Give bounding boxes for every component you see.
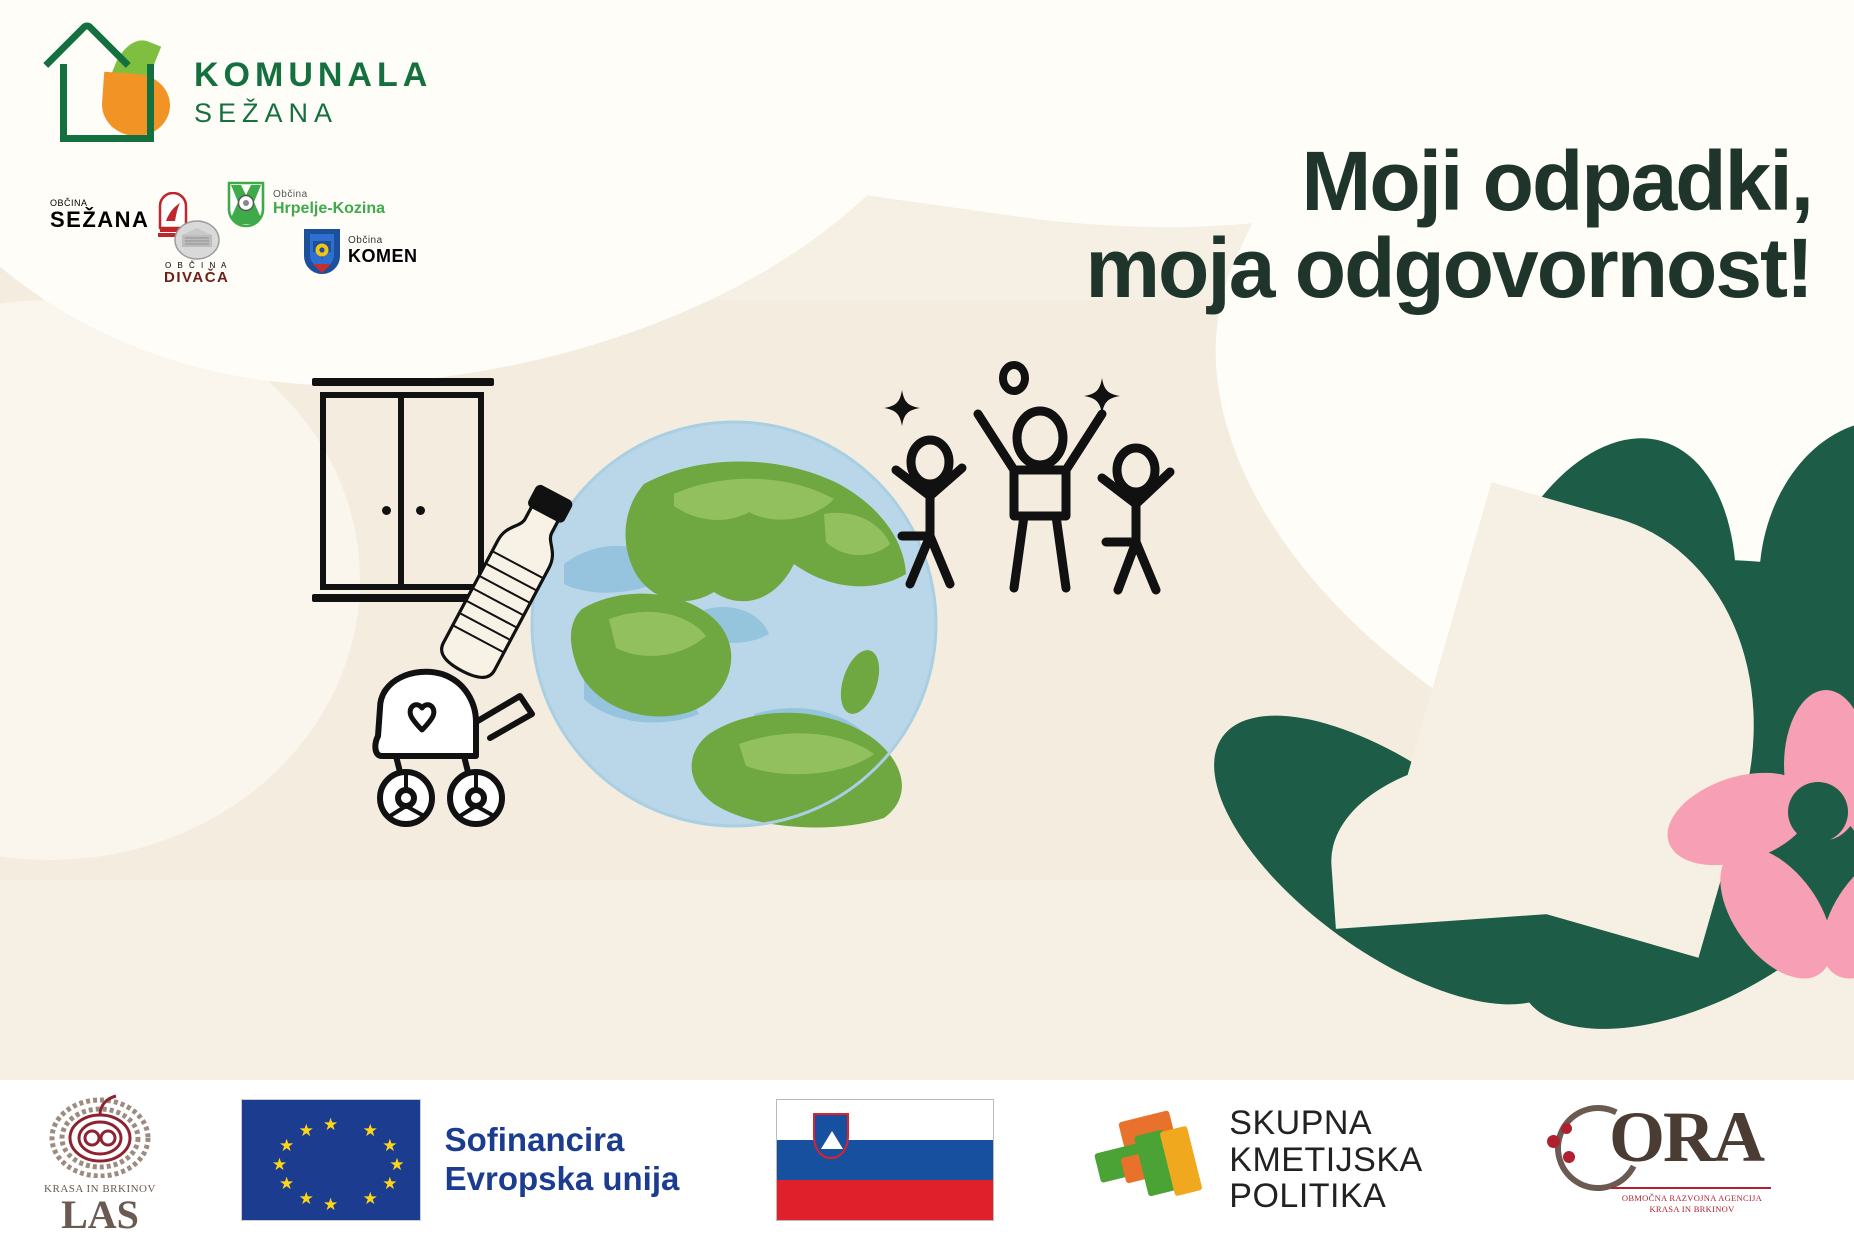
slovenia-flag (720, 1080, 1050, 1240)
municipality-komen: Občina KOMEN (303, 228, 418, 274)
skp-mark-icon (1097, 1110, 1209, 1210)
brand-name-line1: KOMUNALA (194, 58, 432, 92)
ora-wordmark: ORA (1609, 1101, 1763, 1173)
ora-divider (1611, 1187, 1771, 1189)
celebrating-people-icon (874, 360, 1204, 600)
skp-line2: KMETIJSKA (1229, 1142, 1422, 1179)
komen-crest-icon (303, 228, 341, 274)
sparkle-icon (884, 365, 1120, 426)
municipality-divaca: O B Č I N A DIVAČA (164, 220, 229, 286)
skp-line3: POLITIKA (1229, 1178, 1422, 1215)
divaca-crest-icon (173, 220, 221, 260)
headline-line-1: Moji odpadki, (692, 138, 1812, 225)
ora-subtitle-line2: KRASA IN BRKINOV (1611, 1204, 1773, 1215)
municipality-hrpelje-name: Hrpelje-Kozina (273, 201, 385, 218)
komunala-sezana-logo: KOMUNALA SEŽANA (54, 38, 432, 146)
las-wordmark: LAS (38, 1195, 163, 1235)
skp-line1: SKUPNA (1229, 1105, 1422, 1142)
municipality-sezana-name: SEŽANA (50, 208, 149, 231)
las-apple-icon (38, 1090, 163, 1178)
eu-text-line2: Evropska unija (445, 1160, 680, 1199)
las-logo: KRASA IN BRKINOV LAS (0, 1080, 200, 1240)
poster-canvas: KOMUNALA SEŽANA OBČINA SEŽANA (0, 0, 1854, 1240)
municipality-komen-name: KOMEN (348, 247, 418, 266)
municipality-logos: OBČINA SEŽANA O B Č I N A (48, 180, 468, 290)
baby-stroller-icon (360, 660, 570, 840)
house-leaf-logo-icon (54, 38, 172, 146)
poster-headline: Moji odpadki, moja odgovornost! (692, 138, 1812, 311)
eu-cofunding-logo: ★ ★ ★ ★ ★ ★ ★ ★ ★ ★ ★ ★ Sofinancira Evro… (200, 1080, 720, 1240)
pink-flower-decoration (1660, 690, 1854, 950)
eu-flag-icon: ★ ★ ★ ★ ★ ★ ★ ★ ★ ★ ★ ★ (241, 1099, 421, 1221)
headline-line-2: moja odgovornost! (692, 225, 1812, 312)
skupna-kmetijska-politika-logo: SKUPNA KMETIJSKA POLITIKA (1050, 1080, 1470, 1240)
eu-text-line1: Sofinancira (445, 1121, 680, 1160)
slovenia-flag-icon (776, 1099, 994, 1221)
ora-logo: ORA OBMOČNA RAZVOJNA AGENCIJA KRASA IN B… (1470, 1080, 1854, 1240)
footer-logo-bar: KRASA IN BRKINOV LAS ★ ★ ★ ★ ★ ★ ★ ★ ★ ★… (0, 1080, 1854, 1240)
brand-name-line2: SEŽANA (194, 100, 432, 127)
municipality-divaca-name: DIVAČA (164, 270, 229, 286)
hrpelje-kozina-crest-icon (226, 180, 266, 228)
municipality-hrpelje-kozina: Občina Hrpelje-Kozina (226, 180, 385, 228)
ora-subtitle-line1: OBMOČNA RAZVOJNA AGENCIJA (1611, 1193, 1773, 1204)
